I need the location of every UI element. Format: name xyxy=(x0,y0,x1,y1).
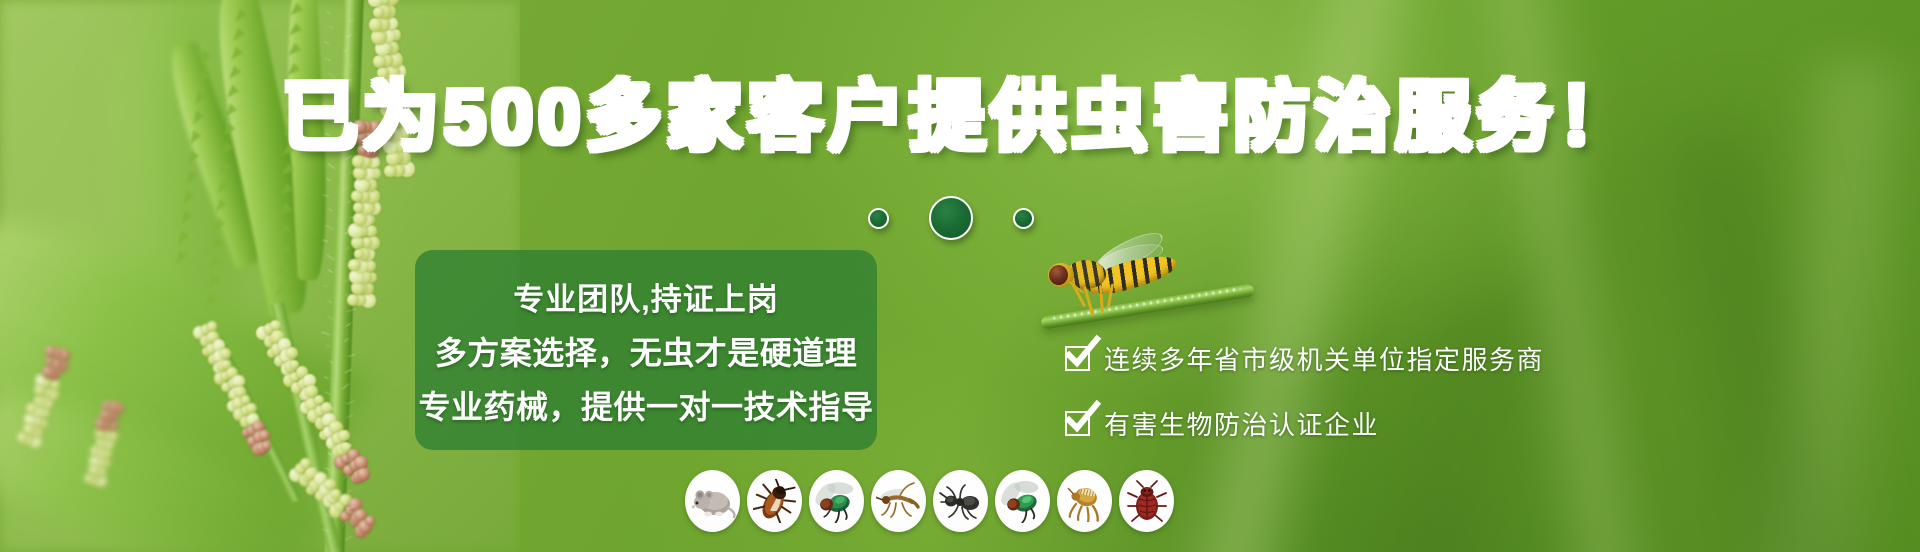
pest-type-icon[interactable] xyxy=(1119,470,1174,532)
pest-type-icon[interactable] xyxy=(1057,470,1112,532)
selling-points-panel: 专业团队,持证上岗 多方案选择，无虫才是硬道理 专业药械，提供一对一技术指导 xyxy=(415,250,877,450)
pest-type-icon[interactable] xyxy=(995,470,1050,532)
mosquito-icon xyxy=(876,480,922,522)
dot-large-center xyxy=(929,196,973,240)
pest-type-icon[interactable] xyxy=(809,470,864,532)
flower-bud xyxy=(351,190,363,202)
bedbug-icon xyxy=(1126,479,1168,523)
rat-icon xyxy=(690,481,736,521)
page-title: 已为500多家客户提供虫害防治服务！ xyxy=(0,80,1920,156)
hoverfly-photo xyxy=(1040,243,1180,315)
flower-bud xyxy=(102,401,111,410)
pest-type-icon[interactable] xyxy=(685,470,740,532)
dot-small-right xyxy=(1013,208,1034,229)
credential-label: 连续多年省市级机关单位指定服务商 xyxy=(1104,340,1544,377)
flower-bud xyxy=(220,348,231,359)
dot-small-left xyxy=(868,208,889,229)
flower-bud xyxy=(369,18,382,31)
credential-label: 有害生物防治认证企业 xyxy=(1104,405,1379,442)
credential-list: 连续多年省市级机关单位指定服务商 有害生物防治认证企业 xyxy=(1065,340,1544,442)
flower-bud xyxy=(262,441,271,450)
cockroach-icon xyxy=(753,479,797,523)
checkbox-check-icon xyxy=(1065,346,1090,371)
panel-line-1: 专业团队,持证上岗 xyxy=(415,284,877,315)
pest-control-hero-banner: 已为500多家客户提供虫害防治服务！ 专业团队,持证上岗 多方案选择，无虫才是硬… xyxy=(0,0,1920,552)
flower-bud xyxy=(96,438,104,446)
pest-type-icon-row[interactable] xyxy=(685,470,1174,532)
flower-bud xyxy=(373,7,384,18)
pest-type-icon[interactable] xyxy=(933,470,988,532)
panel-line-2: 多方案选择，无虫才是硬道理 xyxy=(415,337,877,369)
flower-bud xyxy=(45,346,55,356)
panel-line-3: 专业药械，提供一对一技术指导 xyxy=(415,391,877,423)
flower-bud xyxy=(34,396,43,405)
blowfly-icon xyxy=(1000,479,1046,523)
ant-icon xyxy=(939,481,983,521)
list-item: 连续多年省市级机关单位指定服务商 xyxy=(1065,340,1544,377)
flower-bud xyxy=(357,468,370,481)
pest-type-icon[interactable] xyxy=(871,470,926,532)
list-item: 有害生物防治认证企业 xyxy=(1065,405,1544,442)
pest-type-icon[interactable] xyxy=(747,470,802,532)
flower-bud xyxy=(347,294,359,306)
housefly-icon xyxy=(814,479,860,523)
flea-icon xyxy=(1063,480,1107,522)
checkbox-check-icon xyxy=(1065,411,1090,436)
decorative-dot-group xyxy=(868,196,1034,240)
flower-bud xyxy=(373,55,386,68)
page-title-text: 已为500多家客户提供虫害防治服务！ xyxy=(282,80,1639,156)
flower-bud xyxy=(354,249,364,259)
hoverfly-eye xyxy=(1049,265,1068,285)
